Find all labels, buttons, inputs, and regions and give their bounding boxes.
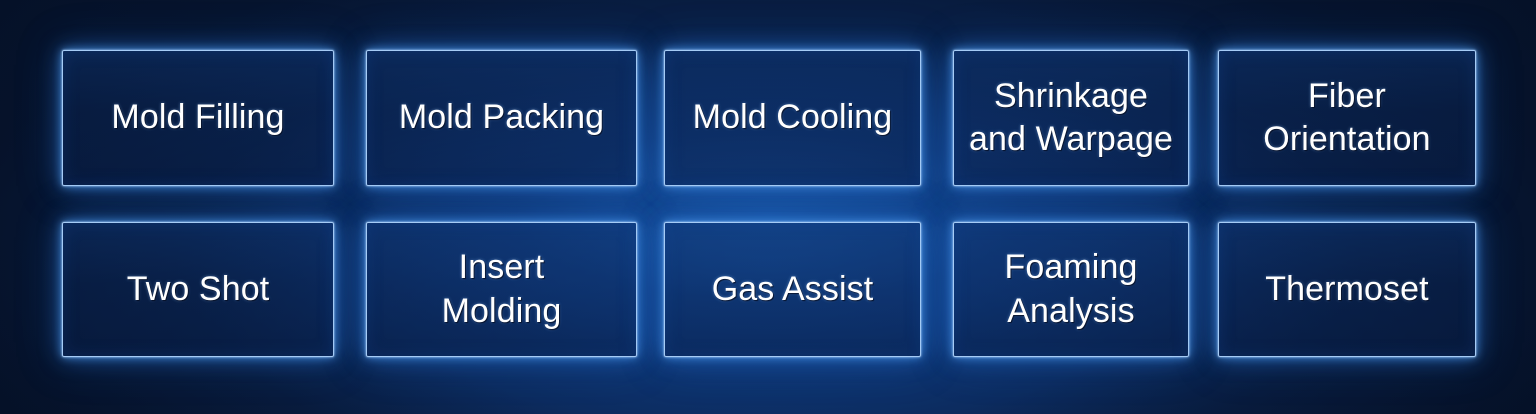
tile-label: Mold Cooling (685, 96, 901, 139)
tile-mold-cooling[interactable]: Mold Cooling (664, 50, 921, 186)
tile-label: Shrinkage and Warpage (961, 75, 1181, 161)
tile-label: Foaming Analysis (997, 246, 1146, 332)
capability-tile-grid: Mold Filling Mold Packing Mold Cooling S… (0, 0, 1536, 414)
tile-shrinkage-and-warpage[interactable]: Shrinkage and Warpage (953, 50, 1189, 186)
tile-label: Gas Assist (704, 268, 882, 311)
slide-canvas: Mold Filling Mold Packing Mold Cooling S… (0, 0, 1536, 414)
tile-thermoset[interactable]: Thermoset (1218, 222, 1476, 357)
tile-gas-assist[interactable]: Gas Assist (664, 222, 921, 357)
tile-mold-filling[interactable]: Mold Filling (62, 50, 334, 186)
tile-insert-molding[interactable]: Insert Molding (366, 222, 637, 357)
tile-fiber-orientation[interactable]: Fiber Orientation (1218, 50, 1476, 186)
tile-label: Fiber Orientation (1255, 75, 1438, 161)
tile-label: Thermoset (1257, 268, 1436, 311)
tile-two-shot[interactable]: Two Shot (62, 222, 334, 357)
tile-label: Two Shot (119, 268, 278, 311)
tile-label: Mold Filling (103, 96, 292, 139)
tile-label: Mold Packing (391, 96, 612, 139)
tile-foaming-analysis[interactable]: Foaming Analysis (953, 222, 1189, 357)
tile-mold-packing[interactable]: Mold Packing (366, 50, 637, 186)
tile-label: Insert Molding (434, 246, 570, 332)
